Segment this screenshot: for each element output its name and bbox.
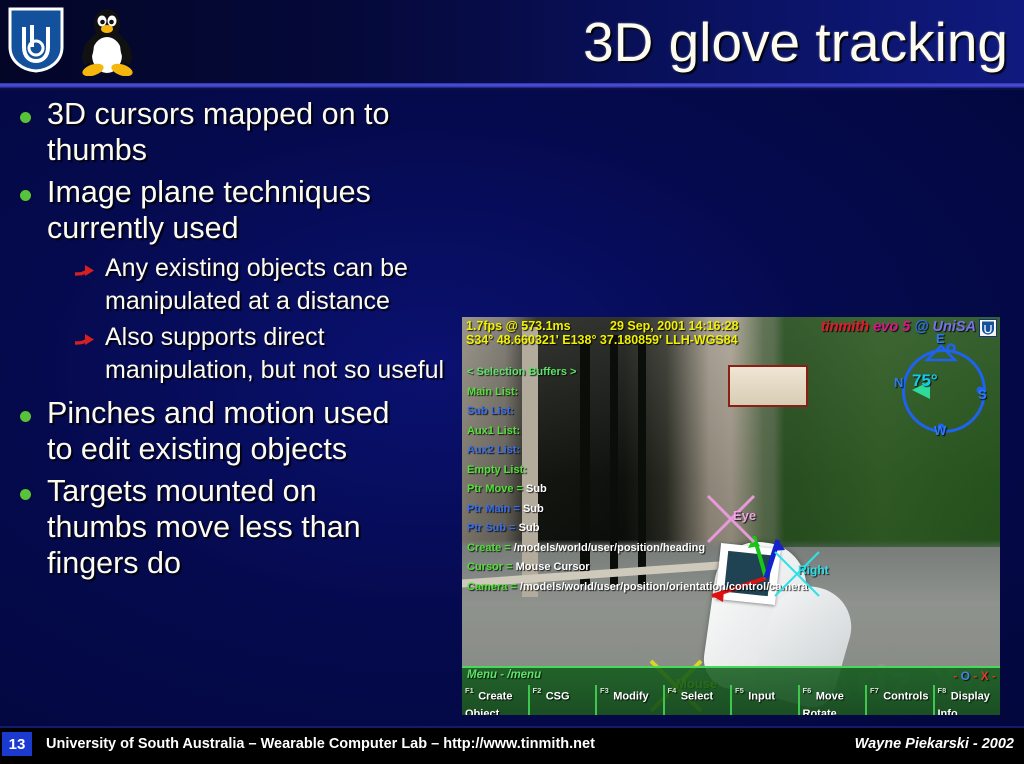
arrow-right-icon	[74, 330, 96, 352]
slide-footer: 13 University of South Australia – Weara…	[0, 726, 1024, 764]
menu-item-controls[interactable]: F7 Controls	[865, 685, 933, 715]
bullet-dot-icon	[20, 411, 31, 422]
eye-cursor-label: Eye	[733, 508, 756, 523]
hud-brand-text: tinmith evo 5 @ UniSA	[821, 319, 976, 335]
window-controls[interactable]: - O - X -	[953, 669, 996, 683]
row-value: Sub	[519, 522, 540, 534]
menu-item-move-rotate[interactable]: F6 Move Rotate	[798, 685, 866, 715]
menu-key: F6	[803, 686, 812, 695]
row-value: /models/world/user/position/heading	[514, 542, 705, 554]
compass-west-label: W	[934, 423, 946, 438]
menu-key: F2	[533, 686, 542, 695]
row-label: Ptr Move =	[467, 483, 523, 495]
menu-item-input[interactable]: F5 Input	[730, 685, 798, 715]
selection-buffer-row: Cursor = Mouse Cursor	[467, 558, 808, 578]
compass-east-label: E	[936, 331, 945, 346]
menu-item-create-object[interactable]: F1 Create Object	[462, 685, 528, 715]
row-label: Aux2 List:	[467, 444, 520, 456]
bullet-text: Image plane techniques currently used	[47, 174, 470, 246]
row-label: Create =	[467, 542, 511, 554]
row-label: Main List:	[467, 386, 518, 398]
bullet-item: Targets mounted on thumbs move less than…	[0, 473, 420, 581]
menu-label: Input	[748, 690, 775, 702]
eye-cursor: Eye	[705, 493, 757, 545]
menu-label: Select	[681, 690, 713, 702]
menu-key: F5	[735, 686, 744, 695]
compass-south-label: S	[978, 387, 987, 402]
header-divider-shadow	[0, 88, 1024, 90]
row-label: Ptr Sub =	[467, 522, 516, 534]
hud-fps-text: 1.7fps @ 573.1ms	[466, 319, 571, 333]
row-label: Empty List:	[467, 464, 527, 476]
menu-item-modify[interactable]: F3 Modify	[595, 685, 663, 715]
menu-item-display-info[interactable]: F8 Display Info	[933, 685, 1001, 715]
menu-item-csg[interactable]: F2 CSG	[528, 685, 596, 715]
selection-buffers-list: < Selection Buffers > Main List: Sub Lis…	[467, 363, 808, 597]
menu-label: Modify	[613, 690, 648, 702]
row-label: Ptr Main =	[467, 503, 520, 515]
row-label: Sub List:	[467, 405, 514, 417]
menu-key: F1	[465, 686, 474, 695]
slide-number: 13	[9, 736, 26, 753]
selection-buffers-header: < Selection Buffers >	[467, 363, 808, 383]
compass-heading: 75°	[912, 371, 938, 391]
brand-evo: evo 5	[873, 319, 910, 335]
compass-widget: 75° N E W S	[890, 335, 994, 439]
row-value: /models/world/user/position/orientation/…	[520, 581, 808, 593]
arrow-right-icon	[74, 261, 96, 283]
menu-key: F3	[600, 686, 609, 695]
sub-bullet-text: Any existing objects can be manipulated …	[105, 252, 470, 318]
footer-institution-text: University of South Australia – Wearable…	[46, 736, 595, 752]
slide-header: 3D glove tracking	[0, 0, 1024, 83]
bullet-text: 3D cursors mapped on to thumbs	[47, 96, 470, 168]
brand-at: @	[914, 319, 928, 335]
selection-buffer-row: Aux2 List:	[467, 441, 808, 461]
minimize-icon[interactable]: O	[961, 669, 970, 683]
menu-key: F7	[870, 686, 879, 695]
presentation-slide: 3D glove tracking 3D cursors mapped on t…	[0, 0, 1024, 764]
page-title: 3D glove tracking	[583, 6, 1008, 78]
row-label: Aux1 List:	[467, 425, 520, 437]
selection-buffer-row: Main List:	[467, 383, 808, 403]
bullet-dot-icon	[20, 112, 31, 123]
selection-buffer-row: Aux1 List:	[467, 422, 808, 442]
hud-gps-text: S34° 48.660321' E138° 37.180859' LLH-WGS…	[466, 333, 738, 347]
menu-label: CSG	[546, 690, 570, 702]
tux-penguin-logo	[75, 8, 139, 76]
slide-number-badge: 13	[2, 732, 32, 756]
bullet-text: Targets mounted on thumbs move less than…	[47, 473, 420, 581]
selection-buffer-row: Camera = /models/world/user/position/ori…	[467, 578, 808, 598]
hmd-screenshot-panel: 1.7fps @ 573.1ms 29 Sep, 2001 14:16:28 S…	[462, 317, 1000, 715]
row-value: Mouse Cursor	[516, 561, 590, 573]
row-value: Sub	[526, 483, 547, 495]
bullet-item: Image plane techniques currently used	[0, 174, 470, 246]
right-cursor-label: Right	[798, 563, 829, 577]
sub-bullet-item: Also supports direct manipulation, but n…	[0, 321, 470, 387]
hud-timestamp-text: 29 Sep, 2001 14:16:28	[610, 319, 739, 333]
menu-items: F1 Create Object F2 CSG F3 Modify F4 Sel…	[462, 685, 1000, 715]
brand-tinmith: tinmith	[821, 319, 869, 335]
compass-north-label: N	[894, 375, 903, 390]
unisa-shield-logo	[8, 7, 64, 73]
menu-label: Display Info	[938, 690, 990, 715]
sub-bullet-item: Any existing objects can be manipulated …	[0, 252, 470, 318]
menu-item-select[interactable]: F4 Select	[663, 685, 731, 715]
menu-title: Menu - /menu	[467, 669, 541, 681]
right-hand-cursor: Right	[772, 549, 822, 599]
bullet-item: 3D cursors mapped on to thumbs	[0, 96, 470, 168]
selection-buffer-row: Empty List:	[467, 461, 808, 481]
tinmith-menu-bar: Menu - /menu - O - X - F1 Create Object …	[462, 666, 1000, 715]
selection-buffer-row: Sub List:	[467, 402, 808, 422]
bullet-text: Pinches and motion used to edit existing…	[47, 395, 420, 467]
menu-key: F8	[938, 686, 947, 695]
row-value: Sub	[523, 503, 544, 515]
bullet-dot-icon	[20, 489, 31, 500]
bullet-item: Pinches and motion used to edit existing…	[0, 395, 420, 467]
row-label: Cursor =	[467, 561, 513, 573]
row-label: Camera =	[467, 581, 517, 593]
menu-key: F4	[668, 686, 677, 695]
bullet-list: 3D cursors mapped on to thumbs Image pla…	[0, 96, 470, 587]
sub-bullet-text: Also supports direct manipulation, but n…	[105, 321, 470, 387]
bullet-dot-icon	[20, 190, 31, 201]
footer-author-text: Wayne Piekarski - 2002	[855, 736, 1014, 752]
menu-label: Controls	[883, 690, 928, 702]
